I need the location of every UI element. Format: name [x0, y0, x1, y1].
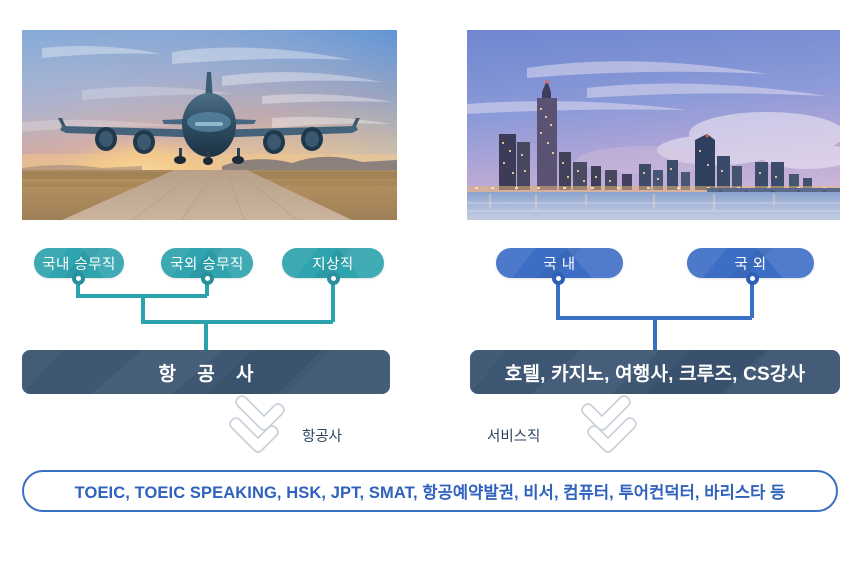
connector-dot: [327, 272, 340, 285]
certifications-box: TOEIC, TOEIC SPEAKING, HSK, JPT, SMAT, 항…: [22, 470, 838, 512]
arrow-caption-airline: 항공사: [302, 425, 342, 446]
double-chevron-down-right-icon: [566, 392, 638, 454]
result-bar-label: 항 공 사: [151, 359, 262, 386]
connector-dot: [746, 272, 759, 285]
diagram-canvas: 국내 승무직 국외 승무직 지상직 항 공 사: [0, 0, 860, 582]
pill-label: 국내 승무직: [42, 253, 116, 274]
result-bar-service: 호텔, 카지노, 여행사, 크루즈, CS강사: [470, 350, 840, 394]
result-bar-label: 호텔, 카지노, 여행사, 크루즈, CS강사: [505, 359, 805, 386]
pill-label: 국 내: [543, 253, 575, 274]
certifications-text: TOEIC, TOEIC SPEAKING, HSK, JPT, SMAT, 항…: [75, 479, 786, 503]
arrow-caption-service: 서비스직: [487, 425, 540, 446]
connector-dot: [201, 272, 214, 285]
pill-label: 국외 승무직: [170, 253, 244, 274]
result-bar-airline: 항 공 사: [22, 350, 390, 394]
connector-dot: [72, 272, 85, 285]
seoul-skyline-dusk-photo: [467, 30, 840, 220]
airplane-landing-sunset-photo: [22, 30, 397, 220]
pill-label: 국 외: [734, 253, 766, 274]
pill-label: 지상직: [312, 253, 354, 274]
double-chevron-down-left-icon: [228, 392, 300, 454]
connector-dot: [552, 272, 565, 285]
